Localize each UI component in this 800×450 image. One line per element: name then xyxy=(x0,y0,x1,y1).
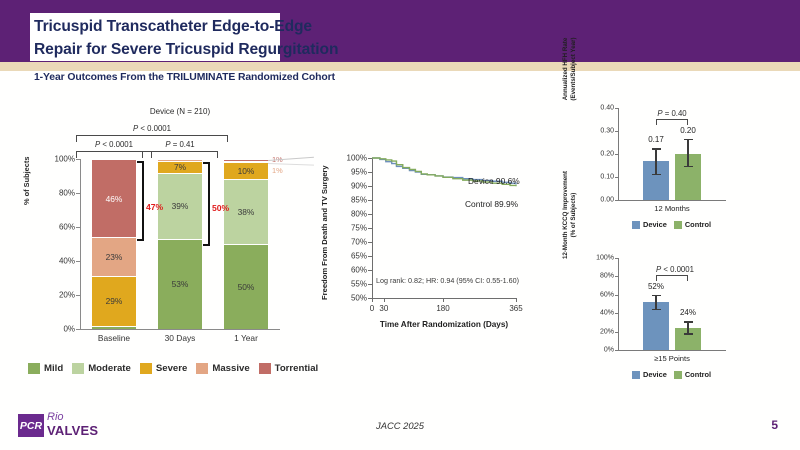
hfh-chart-errorcap-top-device xyxy=(652,148,661,149)
legend-label-mild: Mild xyxy=(44,363,63,374)
stacked-y-axis xyxy=(80,159,81,329)
kccq-chart-value-device: 52% xyxy=(638,282,674,291)
hfh-chart-errorcap-bottom-control xyxy=(684,166,693,167)
hfh-chart-legend-label-device: Device xyxy=(643,220,667,229)
hfh-chart-y-tickmark xyxy=(615,108,618,109)
stacked-segment-moderate: 38% xyxy=(224,179,268,244)
improvement-bracket-1yr xyxy=(203,162,210,245)
stacked-segment-moderate: 39% xyxy=(158,173,202,239)
kccq-chart-y-tickmark xyxy=(615,258,618,259)
stacked-y-tickmark xyxy=(76,329,80,330)
km-y-tick-label: 85% xyxy=(351,196,367,205)
hfh-chart-errorcap-bottom-device xyxy=(652,174,661,175)
stacked-segment-massive xyxy=(158,159,202,161)
km-y-tick-label: 65% xyxy=(351,252,367,261)
p-bracket-overall-label: P < 0.0001 xyxy=(76,124,228,133)
hfh-chart-y-tickmark xyxy=(615,177,618,178)
km-y-axis-title: Freedom From Death and TV Surgery xyxy=(320,165,329,300)
title-line-2: Repair for Severe Tricuspid Regurgitatio… xyxy=(34,38,274,61)
kccq-chart-errorbar-control xyxy=(687,321,688,333)
hfh-chart-y-axis-title-l1: Annualized HFH Rate xyxy=(562,16,570,122)
hfh-chart-y-tick-label: 0.30 xyxy=(600,128,614,135)
legend-label-torrential: Torrential xyxy=(275,363,319,374)
page-subtitle: 1-Year Outcomes From the TRILUMINATE Ran… xyxy=(34,72,335,83)
stacked-x-tick-baseline: Baseline xyxy=(84,333,144,343)
improvement-label-30d: 47% xyxy=(146,202,163,212)
footer-page-number: 5 xyxy=(771,418,778,432)
kccq-chart-errorbar-device xyxy=(655,295,656,309)
kccq-improvement-chart: 12-Month KCCQ Improvement(% of Subjects)… xyxy=(556,250,796,390)
hfh-chart-errorbar-device xyxy=(655,148,656,173)
stacked-segment-torrential xyxy=(224,159,268,161)
p-bracket-30d-1yr: P = 0.41 xyxy=(142,151,218,159)
legend-swatch-severe xyxy=(140,363,152,374)
hfh-chart-legend-item-device: Device xyxy=(632,220,667,229)
legend-label-severe: Severe xyxy=(156,363,187,374)
hfh-chart-p-bracket: P = 0.40 xyxy=(656,119,688,126)
stacked-y-tickmark xyxy=(76,295,80,296)
footer-citation: JACC 2025 xyxy=(0,420,800,431)
hfh-chart-x-axis xyxy=(618,200,726,201)
page-title: Tricuspid Transcatheter Edge-to-Edge Rep… xyxy=(30,13,280,61)
km-control-label: Control 89.9% xyxy=(465,199,518,209)
kccq-chart-legend-item-device: Device xyxy=(632,370,667,379)
km-x-tickmark xyxy=(443,298,444,302)
hfh-chart-value-control: 0.20 xyxy=(670,126,706,135)
stacked-segment-massive xyxy=(224,161,268,163)
legend-label-moderate: Moderate xyxy=(88,363,131,374)
kccq-chart-y-tickmark xyxy=(615,276,618,277)
hfh-chart-value-device: 0.17 xyxy=(638,135,674,144)
km-y-tick-label: 75% xyxy=(351,224,367,233)
kccq-chart-y-axis-title: 12-Month KCCQ Improvement(% of Subjects) xyxy=(562,162,577,268)
legend-item-severe: Severe xyxy=(140,363,187,374)
stacked-y-tick-label: 20% xyxy=(59,291,75,300)
km-y-tick-label: 60% xyxy=(351,266,367,275)
km-y-tick-label: 55% xyxy=(351,280,367,289)
kccq-chart-errorcap-bottom-control xyxy=(684,333,693,334)
kccq-chart-y-tick-label: 100% xyxy=(596,255,614,262)
km-y-tick-label: 95% xyxy=(351,168,367,177)
hfh-chart-legend-label-control: Control xyxy=(685,220,711,229)
hfh-chart-y-tick-label: 0.40 xyxy=(600,105,614,112)
kccq-chart-legend-label-control: Control xyxy=(685,370,711,379)
legend-item-moderate: Moderate xyxy=(72,363,131,374)
hfh-chart-legend-item-control: Control xyxy=(674,220,711,229)
legend-swatch-torrential xyxy=(259,363,271,374)
hfh-chart-y-tickmark xyxy=(615,200,618,201)
hfh-rate-chart: Annualized HFH Rate(Events/Subject Year)… xyxy=(556,100,796,240)
km-x-tick-label: 30 xyxy=(379,304,388,313)
km-x-tickmark xyxy=(384,298,385,302)
legend-swatch-moderate xyxy=(72,363,84,374)
hfh-chart-legend: DeviceControl xyxy=(632,220,711,229)
stacked-x-tick-1-year: 1 Year xyxy=(216,333,276,343)
stacked-y-tick-label: 40% xyxy=(59,257,75,266)
improvement-label-1yr: 50% xyxy=(212,203,229,213)
kccq-chart-y-tickmark xyxy=(615,295,618,296)
kccq-chart-x-axis xyxy=(618,350,726,351)
hfh-chart-y-axis-title: Annualized HFH Rate(Events/Subject Year) xyxy=(562,16,577,122)
stacked-x-tick-30-days: 30 Days xyxy=(150,333,210,343)
kccq-chart-legend-label-device: Device xyxy=(643,370,667,379)
stacked-legend: MildModerateSevereMassiveTorrential xyxy=(28,363,348,374)
hfh-chart-errorbar-control xyxy=(687,139,688,166)
legend-label-massive: Massive xyxy=(212,363,249,374)
hfh-chart-x-tick-label: 12 Months xyxy=(636,204,708,213)
kccq-chart-y-tick-label: 80% xyxy=(600,273,614,280)
kccq-chart-y-tick-label: 40% xyxy=(600,310,614,317)
stacked-y-tick-label: 60% xyxy=(59,223,75,232)
stacked-y-tickmark xyxy=(76,193,80,194)
stacked-bar-1-year: 50%38%10% xyxy=(224,159,268,329)
stacked-bar-30-days: 53%39%7% xyxy=(158,159,202,329)
kccq-chart-y-tickmark xyxy=(615,332,618,333)
kccq-chart-y-tickmark xyxy=(615,313,618,314)
legend-item-massive: Massive xyxy=(196,363,249,374)
hfh-chart-y-tickmark xyxy=(615,131,618,132)
km-y-tick-label: 70% xyxy=(351,238,367,247)
stacked-segment-mild xyxy=(92,326,136,329)
improvement-bracket-30d xyxy=(137,161,144,241)
km-x-tick-label: 365 xyxy=(509,304,522,313)
legend-item-torrential: Torrential xyxy=(259,363,319,374)
km-x-tick-label: 0 xyxy=(370,304,374,313)
stacked-y-tickmark xyxy=(76,227,80,228)
km-x-tickmark xyxy=(516,298,517,302)
kccq-chart-legend-swatch-device xyxy=(632,371,640,379)
km-y-tick-label: 80% xyxy=(351,210,367,219)
kccq-chart-y-axis-title-l2: (% of Subjects) xyxy=(570,162,578,268)
legend-swatch-mild xyxy=(28,363,40,374)
hfh-chart-y-tick-label: 0.00 xyxy=(600,197,614,204)
stacked-chart-title: Device (N = 210) xyxy=(80,107,280,116)
stacked-segment-torrential: 46% xyxy=(92,159,136,237)
km-stat-annotation: Log rank: 0.82; HR: 0.94 (95% CI: 0.55-1… xyxy=(376,276,519,285)
header-beige-band xyxy=(0,62,800,71)
kccq-chart-y-tick-label: 20% xyxy=(600,328,614,335)
hfh-chart-p-value-label: P = 0.40 xyxy=(656,109,688,118)
kccq-chart-y-axis-title-l1: 12-Month KCCQ Improvement xyxy=(562,162,570,268)
p-bracket-30d-1yr-label: P = 0.41 xyxy=(142,140,218,149)
km-y-tick-label: 50% xyxy=(351,294,367,303)
stacked-y-tickmark xyxy=(76,261,80,262)
hfh-chart-y-tickmark xyxy=(615,154,618,155)
km-device-label: Device 90.6% xyxy=(468,176,520,186)
stacked-segment-severe: 10% xyxy=(224,162,268,179)
kccq-chart-x-tick-label: ≥15 Points xyxy=(636,354,708,363)
hfh-chart-errorcap-top-control xyxy=(684,139,693,140)
stacked-y-tick-label: 0% xyxy=(63,325,75,334)
hfh-chart-y-tick-label: 0.10 xyxy=(600,174,614,181)
stacked-y-tick-label: 80% xyxy=(59,189,75,198)
legend-swatch-massive xyxy=(196,363,208,374)
kccq-chart-y-tick-label: 60% xyxy=(600,291,614,298)
stacked-y-tick-label: 100% xyxy=(55,155,75,164)
stacked-x-axis xyxy=(80,329,280,330)
stacked-y-tickmark xyxy=(76,159,80,160)
kccq-chart-y-axis xyxy=(618,258,619,350)
km-x-tickmark xyxy=(372,298,373,302)
hfh-chart-legend-swatch-device xyxy=(632,221,640,229)
kccq-chart-errorcap-top-device xyxy=(652,295,661,296)
stacked-plot-area: 0%20%40%60%80%100%29%23%46%Baseline53%39… xyxy=(80,159,280,329)
stacked-y-axis-title: % of Subjects xyxy=(22,157,31,205)
hfh-chart-y-tick-label: 0.20 xyxy=(600,151,614,158)
tr-severity-stacked-chart: % of Subjects Device (N = 210) 0%20%40%6… xyxy=(28,105,338,355)
hfh-chart-legend-swatch-control xyxy=(674,221,682,229)
kccq-chart-errorcap-top-control xyxy=(684,321,693,322)
stacked-segment-mild: 50% xyxy=(224,244,268,329)
kccq-chart-y-tickmark xyxy=(615,350,618,351)
km-x-axis xyxy=(372,298,516,299)
stacked-segment-severe: 7% xyxy=(158,161,202,173)
kccq-chart-legend-item-control: Control xyxy=(674,370,711,379)
stacked-bar-baseline: 29%23%46% xyxy=(92,159,136,329)
kccq-chart-legend: DeviceControl xyxy=(632,370,711,379)
km-y-tick-label: 90% xyxy=(351,182,367,191)
hfh-chart-y-axis-title-l2: (Events/Subject Year) xyxy=(570,16,578,122)
p-bracket-baseline-30d: P < 0.0001 xyxy=(76,151,152,159)
title-line-1: Tricuspid Transcatheter Edge-to-Edge xyxy=(34,15,274,38)
km-x-axis-title: Time After Randomization (Days) xyxy=(372,320,516,329)
kccq-chart-y-tick-label: 0% xyxy=(604,347,614,354)
km-y-tick-label: 100% xyxy=(347,154,367,163)
kccq-chart-errorcap-bottom-device xyxy=(652,309,661,310)
callout-massive-1yr: 1% xyxy=(272,166,283,175)
kccq-chart-legend-swatch-control xyxy=(674,371,682,379)
legend-item-mild: Mild xyxy=(28,363,63,374)
kccq-chart-value-control: 24% xyxy=(670,308,706,317)
stacked-segment-massive: 23% xyxy=(92,237,136,276)
hfh-chart-y-axis xyxy=(618,108,619,200)
p-bracket-baseline-30d-label: P < 0.0001 xyxy=(76,140,152,149)
km-x-tick-label: 180 xyxy=(436,304,449,313)
stacked-segment-severe: 29% xyxy=(92,276,136,325)
slide-root: Tricuspid Transcatheter Edge-to-Edge Rep… xyxy=(0,0,800,450)
kccq-chart-p-bracket: P < 0.0001 xyxy=(656,275,688,282)
stacked-segment-mild: 53% xyxy=(158,239,202,329)
kccq-chart-p-value-label: P < 0.0001 xyxy=(656,265,688,274)
km-survival-chart: Freedom From Death and TV Surgery 50%55%… xyxy=(318,152,533,347)
